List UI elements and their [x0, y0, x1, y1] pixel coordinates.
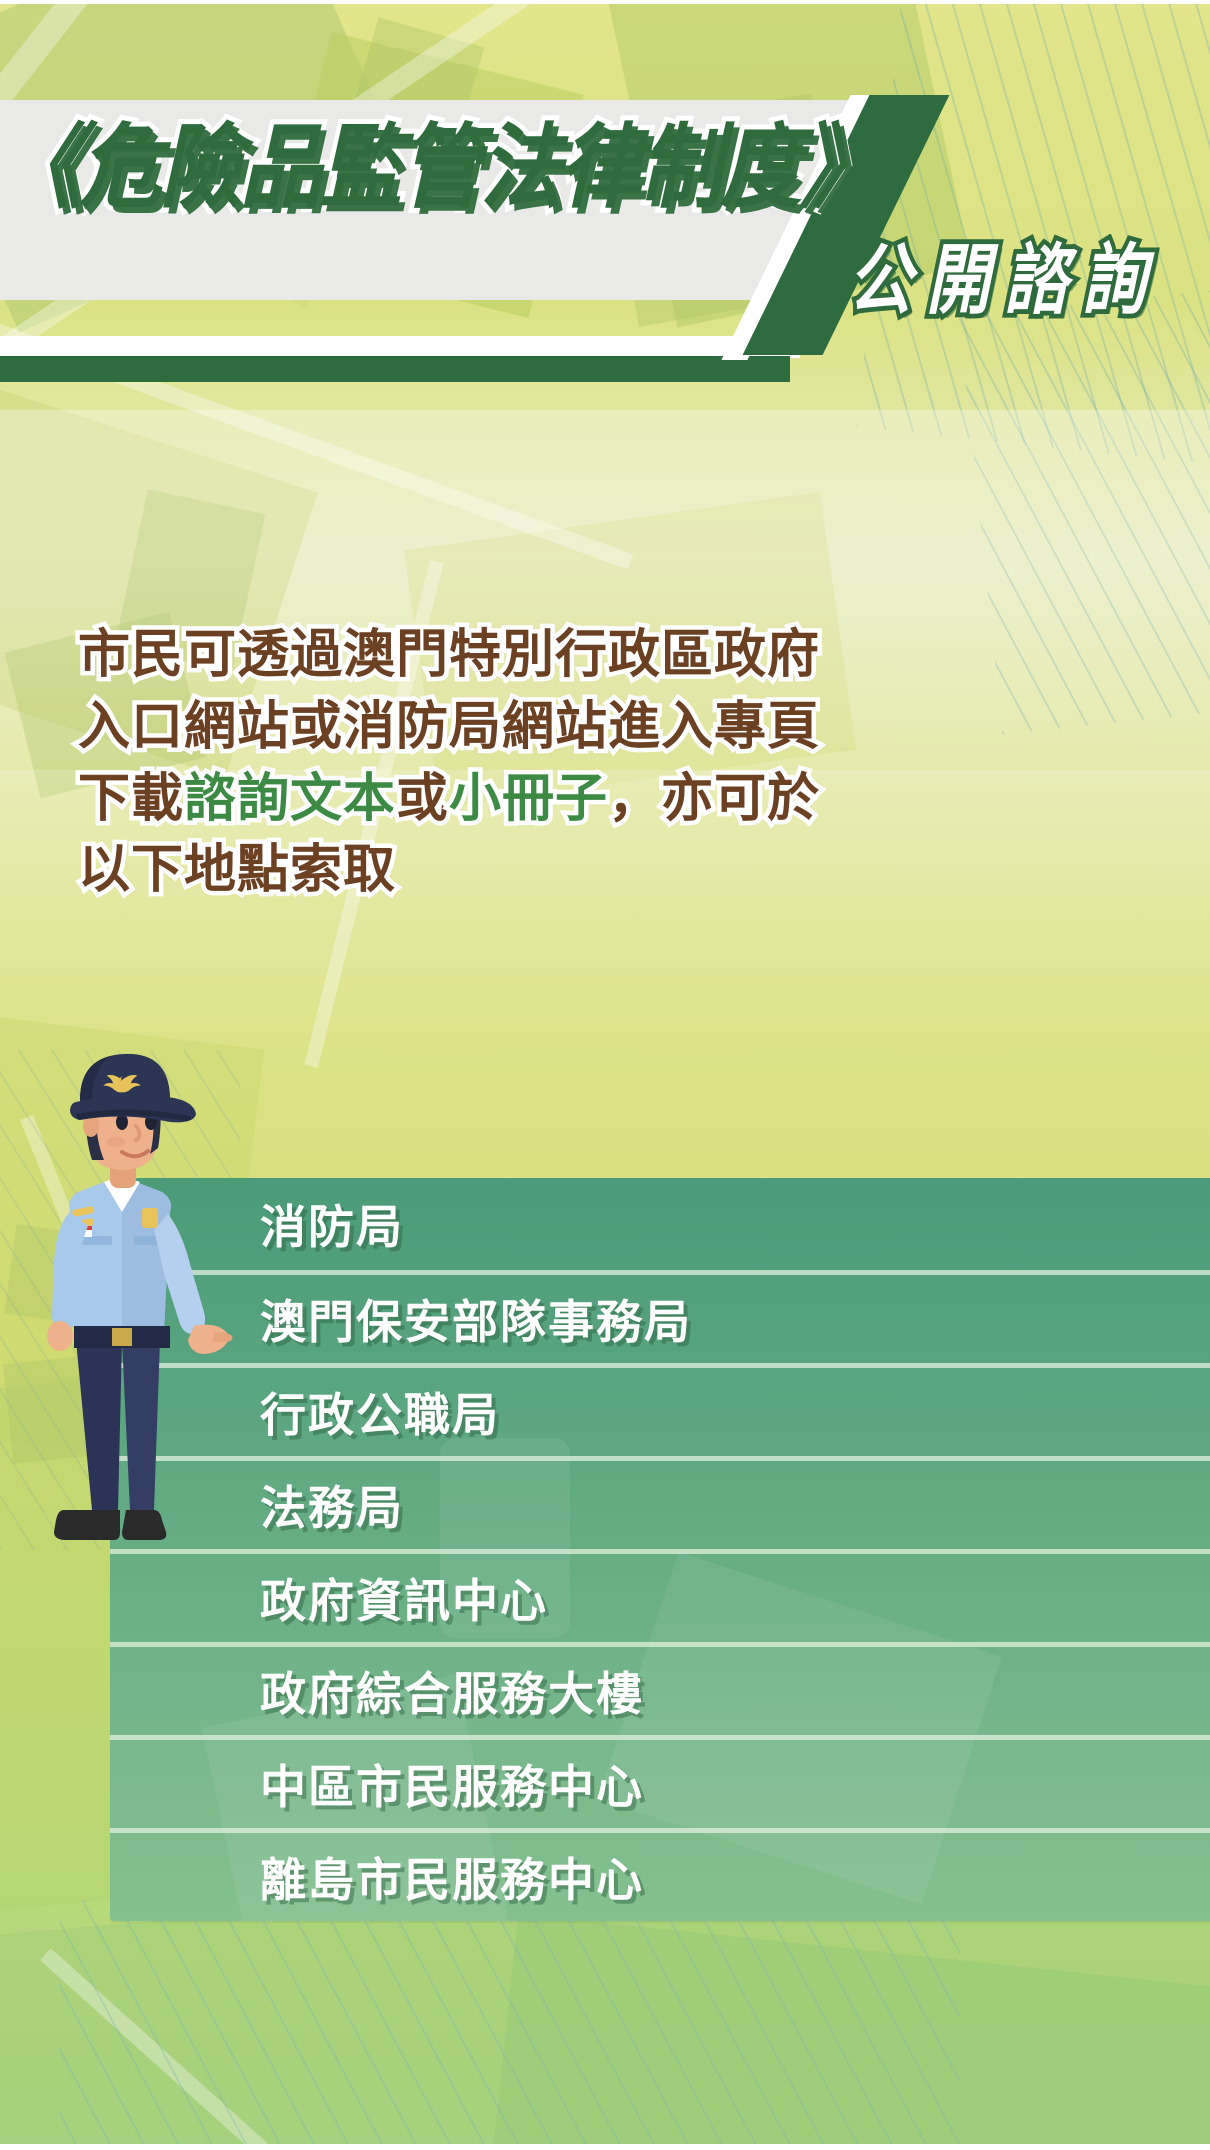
location-label: 政府綜合服務大樓	[260, 1658, 644, 1724]
page-title-text: 《危險品監管法律制度》	[0, 119, 880, 220]
table-row[interactable]: 澳門保安部隊事務局	[110, 1275, 1210, 1368]
cheek	[107, 1137, 125, 1147]
body-line-3-highlight-consultation-text: 諮詢文本	[184, 769, 396, 829]
left-shoe	[54, 1510, 120, 1540]
bottom-white-strip	[0, 2144, 1210, 2150]
location-label: 澳門保安部隊事務局	[260, 1286, 692, 1352]
body-line-3-part-e: ，亦可於	[608, 769, 820, 829]
table-row[interactable]: 政府資訊中心	[110, 1554, 1210, 1647]
badge-emblem	[142, 1208, 158, 1228]
banner-underline-white	[0, 336, 800, 358]
table-row[interactable]: 行政公職局	[110, 1368, 1210, 1461]
top-white-strip	[0, 0, 1210, 4]
location-label: 中區市民服務中心	[260, 1751, 644, 1817]
page-title: 《危險品監管法律制度》	[0, 124, 840, 214]
firefighter-officer-illustration	[18, 1040, 238, 1570]
table-row[interactable]: 消防局	[110, 1178, 1210, 1275]
table-row[interactable]: 中區市民服務中心	[110, 1740, 1210, 1833]
location-label: 法務局	[260, 1472, 404, 1538]
body-line-2: 入口網站或消防局網站進入專頁	[78, 692, 838, 764]
body-paragraph: 市民可透過澳門特別行政區政府 入口網站或消防局網站進入專頁 下載諮詢文本或小冊子…	[78, 620, 838, 907]
left-hand	[47, 1321, 73, 1351]
belt-buckle	[112, 1328, 132, 1346]
right-shoe	[122, 1510, 166, 1540]
bg-hatch-pattern	[60, 1900, 960, 2150]
location-label: 離島市民服務中心	[260, 1844, 644, 1910]
location-label: 消防局	[260, 1191, 404, 1257]
table-row[interactable]: 法務局	[110, 1461, 1210, 1554]
page-subtitle-text: 公開諮詢	[848, 219, 1160, 329]
left-pocket	[82, 1236, 112, 1245]
left-leg	[76, 1340, 122, 1510]
locations-table: 消防局 澳門保安部隊事務局 行政公職局 法務局 政府資訊中心 政府綜合服務大樓 …	[110, 1178, 1210, 1921]
body-line-1: 市民可透過澳門特別行政區政府	[78, 620, 838, 692]
body-line-3-part-c: 或	[396, 769, 449, 829]
location-label: 行政公職局	[260, 1379, 500, 1445]
body-line-4: 以下地點索取	[78, 835, 838, 907]
body-line-3: 下載諮詢文本或小冊子，亦可於	[78, 764, 838, 836]
location-label: 政府資訊中心	[260, 1565, 548, 1631]
body-line-3-highlight-booklet: 小冊子	[449, 769, 608, 829]
right-leg	[122, 1340, 160, 1510]
page-subtitle: 公開諮詢	[0, 228, 1160, 320]
table-row[interactable]: 政府綜合服務大樓	[110, 1647, 1210, 1740]
banner-underline-green	[0, 356, 790, 382]
right-hand	[188, 1325, 233, 1354]
table-row[interactable]: 離島市民服務中心	[110, 1833, 1210, 1921]
poster-root: 《危險品監管法律制度》 公開諮詢 市民可透過澳門特別行政區政府 入口網站或消防局…	[0, 0, 1210, 2150]
body-line-3-part-a: 下載	[78, 769, 184, 829]
